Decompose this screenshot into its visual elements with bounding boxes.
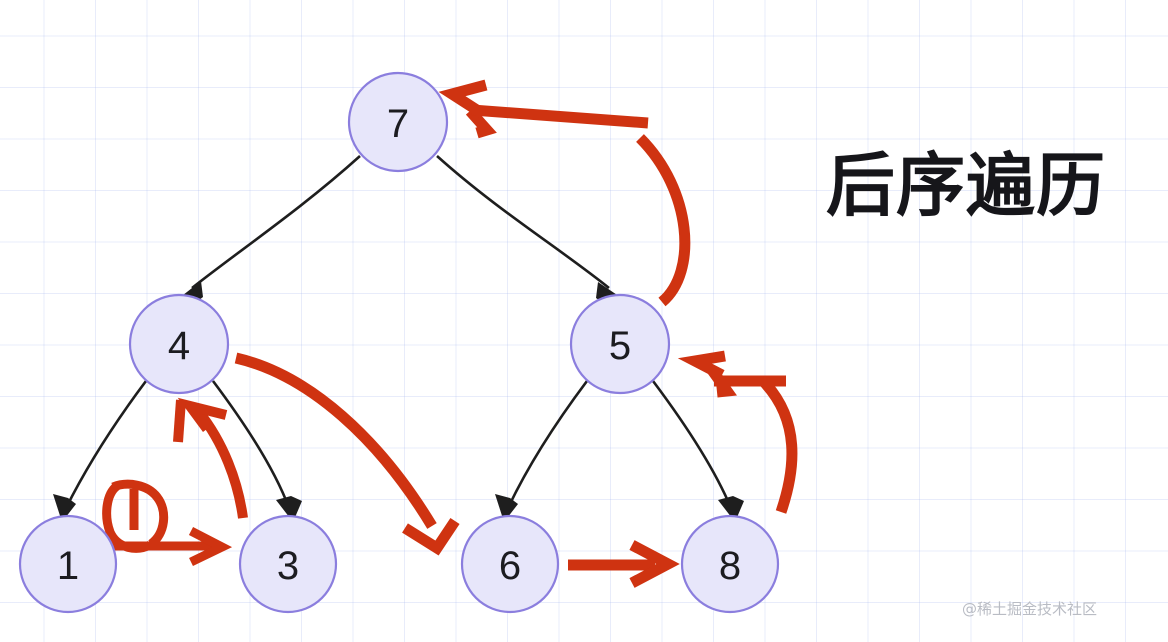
- tree-node-6[interactable]: 6: [462, 516, 558, 612]
- tree-nodes: 7 4 5 1 3 6 8: [20, 73, 778, 612]
- tree-node-1-label: 1: [57, 544, 79, 588]
- arrow-8-to-5-annotation: [695, 356, 792, 512]
- tree-node-1[interactable]: 1: [20, 516, 116, 612]
- tree-node-8[interactable]: 8: [682, 516, 778, 612]
- edge-5-to-8: [653, 381, 744, 522]
- tree-node-8-label: 8: [719, 544, 741, 588]
- arrow-5-to-7-annotation: [452, 85, 685, 302]
- tree-node-7[interactable]: 7: [349, 73, 447, 171]
- arrow-6-to-8-annotation: [568, 545, 668, 583]
- edge-5-to-6: [495, 381, 587, 522]
- tree-node-4-label: 4: [168, 324, 190, 368]
- step-marker-one-annotation: [107, 484, 164, 548]
- diagram-canvas: 7 4 5 1 3 6 8: [0, 0, 1168, 642]
- binary-tree-diagram: 7 4 5 1 3 6 8: [0, 0, 1168, 642]
- arrow-3-to-4-annotation: [178, 400, 243, 518]
- tree-node-4[interactable]: 4: [130, 295, 228, 393]
- tree-node-5[interactable]: 5: [571, 295, 669, 393]
- watermark: @稀土掘金技术社区: [962, 598, 1097, 619]
- tree-node-3[interactable]: 3: [240, 516, 336, 612]
- tree-node-5-label: 5: [609, 324, 631, 368]
- edge-7-to-5: [437, 156, 623, 307]
- tree-node-6-label: 6: [499, 544, 521, 588]
- diagram-title: 后序遍历: [826, 152, 1106, 221]
- tree-node-7-label: 7: [387, 102, 409, 146]
- arrow-1-to-3-annotation: [112, 531, 222, 562]
- tree-node-3-label: 3: [277, 544, 299, 588]
- edge-7-to-4: [178, 156, 360, 307]
